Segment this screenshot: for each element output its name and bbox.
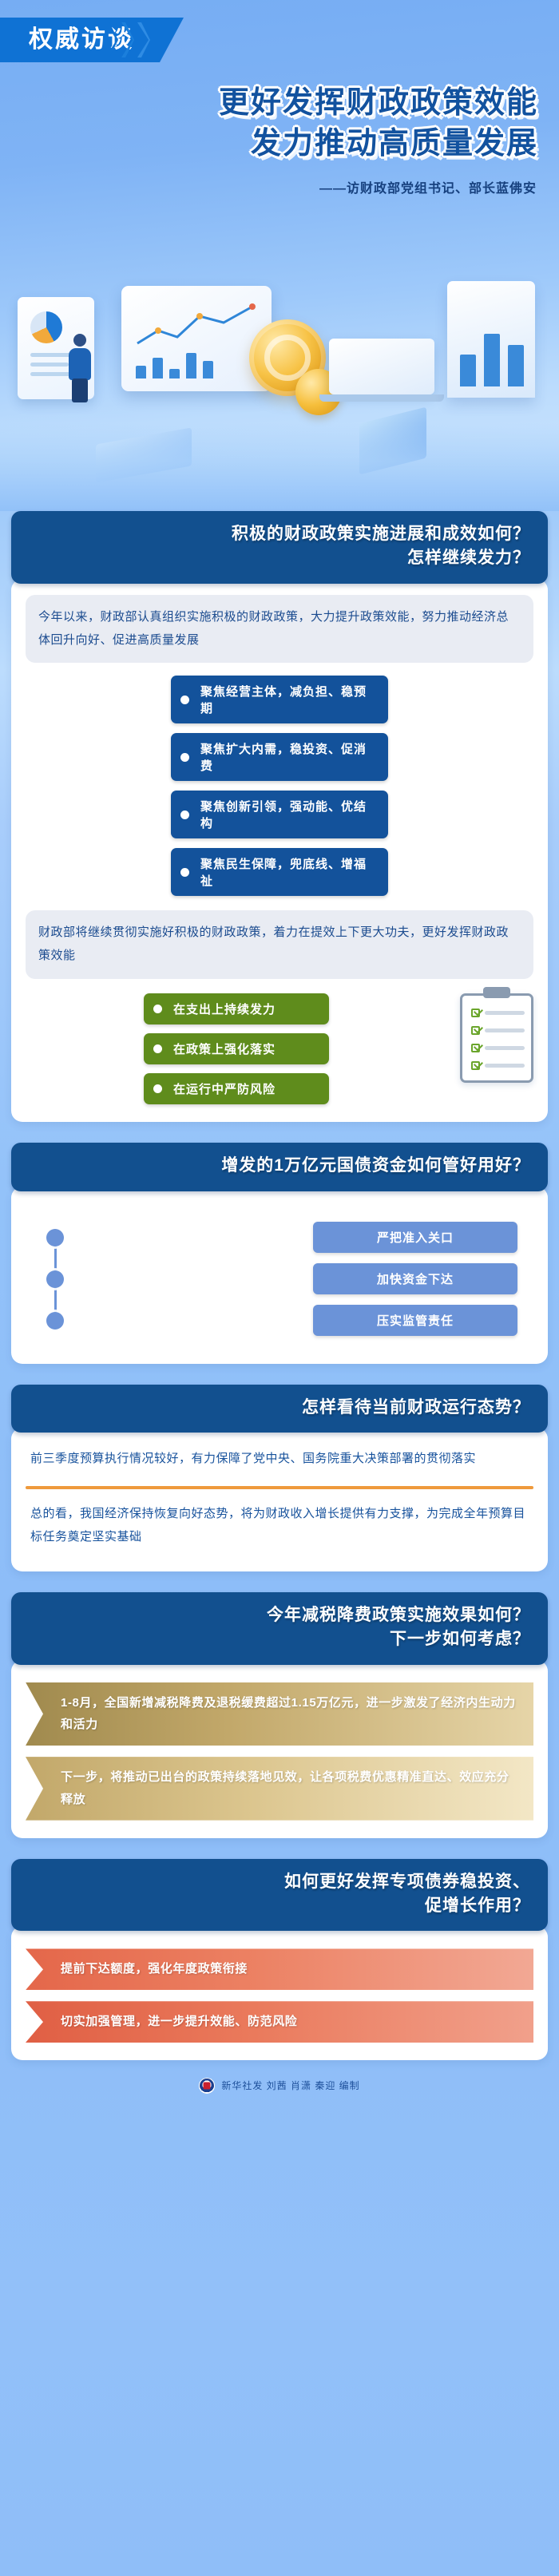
bullet-dot-icon bbox=[153, 1005, 162, 1013]
section-5-ribbon-list: 提前下达额度，强化年度政策衔接 切实加强管理，进一步提升效能、防范风险 bbox=[26, 1948, 533, 2043]
ground-gradient bbox=[0, 423, 559, 511]
section-2-header: 增发的1万亿元国债资金如何管好用好？ bbox=[11, 1143, 548, 1191]
list-item[interactable]: 聚焦扩大内需，稳投资、促消费 bbox=[171, 733, 388, 781]
section-2: 增发的1万亿元国债资金如何管好用好？ 严把准入关口 加快资金下达 压实监管责任 bbox=[11, 1143, 548, 1363]
list-item[interactable]: 在支出上持续发力 bbox=[144, 993, 329, 1024]
bullet-dot-icon bbox=[180, 696, 189, 704]
laptop-illustration bbox=[329, 339, 434, 394]
pill-label: 聚焦扩大内需，稳投资、促消费 bbox=[200, 740, 379, 774]
spacer bbox=[0, 1838, 559, 1859]
monitor-illustration bbox=[121, 286, 272, 391]
xinhua-logo-icon bbox=[199, 2078, 215, 2094]
list-item[interactable]: 聚焦民生保障，兜底线、增福祉 bbox=[171, 848, 388, 896]
section-4-heading-line-1: 今年减税降费政策实施效果如何？ bbox=[29, 1603, 530, 1627]
section-1-quote: 今年以来，财政部认真组织实施积极的财政政策，大力提升政策效能，努力推动经济总体回… bbox=[26, 595, 533, 664]
ribbon-label: 下一步，将推动已出台的政策持续落地见效，让各项税费优惠精准直达、效应充分释放 bbox=[61, 1770, 509, 1806]
section-3-paragraph-1: 前三季度预算执行情况较好，有力保障了党中央、国务院重大决策部署的贯彻落实 bbox=[26, 1444, 533, 1475]
tag-bar: 权威访谈 bbox=[0, 18, 184, 62]
section-4: 今年减税降费政策实施效果如何？ 下一步如何考虑？ 1-8月，全国新增减税降费及退… bbox=[11, 1592, 548, 1838]
hero-banner: 权威访谈 更好发挥财政政策效能 发力推动高质量发展 ——访财政部党组书记、部长蓝… bbox=[0, 0, 559, 511]
building-bar bbox=[508, 345, 524, 386]
person-body bbox=[69, 348, 91, 380]
section-1: 积极的财政政策实施进展和成效如何？ 怎样继续发力？ 今年以来，财政部认真组织实施… bbox=[11, 511, 548, 1122]
building-bar bbox=[484, 334, 500, 386]
check-icon bbox=[471, 1061, 480, 1070]
person-legs bbox=[72, 378, 88, 402]
spacer bbox=[0, 1122, 559, 1143]
checklist-clipboard-icon bbox=[460, 993, 533, 1083]
section-2-body: 严把准入关口 加快资金下达 压实监管责任 bbox=[11, 1187, 548, 1364]
page-subtitle: ——访财政部党组书记、部长蓝佛安 bbox=[319, 177, 537, 196]
section-5-heading-line-1: 如何更好发挥专项债券稳投资、 bbox=[29, 1870, 530, 1894]
check-icon bbox=[471, 1009, 480, 1017]
section-4-ribbon-list: 1-8月，全国新增减税降费及退税缓费超过1.15万亿元，进一步激发了经济内生动力… bbox=[26, 1682, 533, 1821]
timeline-label: 加快资金下达 bbox=[313, 1263, 517, 1294]
bullet-dot-icon bbox=[180, 753, 189, 762]
section-4-heading-line-2: 下一步如何考虑？ bbox=[29, 1627, 530, 1651]
timeline-item[interactable]: 严把准入关口 bbox=[26, 1217, 533, 1258]
ribbon-label: 切实加强管理，进一步提升效能、防范风险 bbox=[61, 2015, 297, 2028]
placeholder-line bbox=[485, 1011, 525, 1015]
section-tag: 权威访谈 bbox=[0, 18, 184, 62]
timeline-item[interactable]: 压实监管责任 bbox=[26, 1300, 533, 1342]
section-1-pill-list-2: 在支出上持续发力 在政策上强化落实 在运行中严防风险 bbox=[26, 993, 447, 1104]
checklist-row bbox=[471, 1061, 525, 1070]
list-item[interactable]: 聚焦创新引领，强动能、优结构 bbox=[171, 791, 388, 838]
section-1-outcome-row: 在支出上持续发力 在政策上强化落实 在运行中严防风险 bbox=[26, 993, 533, 1104]
section-5-body: 提前下达额度，强化年度政策衔接 切实加强管理，进一步提升效能、防范风险 bbox=[11, 1926, 548, 2060]
timeline-label: 严把准入关口 bbox=[313, 1222, 517, 1253]
timeline-label: 压实监管责任 bbox=[313, 1305, 517, 1336]
placeholder-line bbox=[485, 1046, 525, 1050]
spacer bbox=[0, 1571, 559, 1592]
placeholder-line bbox=[485, 1028, 525, 1032]
line-chart-icon bbox=[136, 303, 256, 350]
section-1-body: 今年以来，财政部认真组织实施积极的财政政策，大力提升政策效能，努力推动经济总体回… bbox=[11, 579, 548, 1122]
check-icon bbox=[471, 1044, 480, 1052]
section-1-heading-line-2: 怎样继续发力？ bbox=[29, 546, 530, 570]
building-bar bbox=[460, 355, 476, 386]
pill-label: 聚焦民生保障，兜底线、增福祉 bbox=[200, 855, 379, 889]
pie-chart-icon bbox=[30, 311, 62, 343]
section-4-header: 今年减税降费政策实施效果如何？ 下一步如何考虑？ bbox=[11, 1592, 548, 1665]
pill-label: 聚焦创新引领，强动能、优结构 bbox=[200, 798, 379, 831]
bullet-dot-icon bbox=[180, 868, 189, 877]
bullet-dot-icon bbox=[153, 1084, 162, 1093]
timeline-dot-icon bbox=[46, 1229, 64, 1246]
section-3-header: 怎样看待当前财政运行态势？ bbox=[11, 1385, 548, 1433]
bullet-dot-icon bbox=[153, 1044, 162, 1053]
footer-credit: 新华社发 刘茜 肖潇 秦迎 编制 bbox=[0, 2060, 559, 2114]
list-item[interactable]: 在政策上强化落实 bbox=[144, 1033, 329, 1064]
section-2-timeline: 严把准入关口 加快资金下达 压实监管责任 bbox=[26, 1203, 533, 1346]
section-1-header: 积极的财政政策实施进展和成效如何？ 怎样继续发力？ bbox=[11, 511, 548, 584]
section-3: 怎样看待当前财政运行态势？ 前三季度预算执行情况较好，有力保障了党中央、国务院重… bbox=[11, 1385, 548, 1571]
timeline-item[interactable]: 加快资金下达 bbox=[26, 1258, 533, 1300]
section-3-paragraph-2: 总的看，我国经济保持恢复向好态势，将为财政收入增长提供有力支撑，为完成全年预算目… bbox=[26, 1499, 533, 1554]
section-1-pill-list: 聚焦经营主体，减负担、稳预期 聚焦扩大内需，稳投资、促消费 聚焦创新引领，强动能… bbox=[26, 676, 533, 896]
section-3-heading-line-1: 怎样看待当前财政运行态势？ bbox=[29, 1396, 530, 1420]
ribbon-label: 提前下达额度，强化年度政策衔接 bbox=[61, 1962, 248, 1976]
ribbon-item[interactable]: 提前下达额度，强化年度政策衔接 bbox=[26, 1948, 533, 1990]
divider bbox=[26, 1486, 533, 1489]
check-icon bbox=[471, 1026, 480, 1035]
building-illustration bbox=[447, 281, 535, 398]
pill-label: 聚焦经营主体，减负担、稳预期 bbox=[200, 683, 379, 716]
section-3-body: 前三季度预算执行情况较好，有力保障了党中央、国务院重大决策部署的贯彻落实 总的看… bbox=[11, 1428, 548, 1571]
placeholder-line bbox=[485, 1064, 525, 1068]
spacer bbox=[0, 1364, 559, 1385]
timeline-dot-icon bbox=[46, 1270, 64, 1288]
title-line-2: 发力推动高质量发展 bbox=[0, 124, 538, 164]
chevron-right-icon bbox=[137, 22, 150, 57]
credit-text: 新华社发 刘茜 肖潇 秦迎 编制 bbox=[221, 2079, 359, 2092]
section-1-quote-2: 财政部将继续贯彻实施好积极的财政政策，着力在提效上下更大功夫，更好发挥财政政策效… bbox=[26, 910, 533, 979]
section-1-heading-line-1: 积极的财政政策实施进展和成效如何？ bbox=[29, 522, 530, 546]
person-head bbox=[73, 334, 86, 347]
section-5-header: 如何更好发挥专项债券稳投资、 促增长作用？ bbox=[11, 1859, 548, 1932]
pill-label: 在运行中严防风险 bbox=[173, 1080, 276, 1097]
ribbon-label: 1-8月，全国新增减税降费及退税缓费超过1.15万亿元，进一步激发了经济内生动力… bbox=[61, 1696, 516, 1732]
list-item[interactable]: 在运行中严防风险 bbox=[144, 1073, 329, 1104]
ribbon-item[interactable]: 切实加强管理，进一步提升效能、防范风险 bbox=[26, 2001, 533, 2043]
bullet-dot-icon bbox=[180, 810, 189, 819]
infographic-page: 权威访谈 更好发挥财政政策效能 发力推动高质量发展 ——访财政部党组书记、部长蓝… bbox=[0, 0, 559, 2576]
pill-label: 在支出上持续发力 bbox=[173, 1001, 276, 1017]
list-item[interactable]: 聚焦经营主体，减负担、稳预期 bbox=[171, 676, 388, 723]
bar-chart-icon bbox=[136, 351, 213, 378]
person-illustration bbox=[62, 334, 97, 402]
pill-label: 在政策上强化落实 bbox=[173, 1040, 276, 1057]
page-title: 更好发挥财政政策效能 发力推动高质量发展 bbox=[0, 83, 538, 165]
checklist-row bbox=[471, 1009, 525, 1017]
chevron-right-icon bbox=[121, 22, 134, 57]
timeline-dot-icon bbox=[46, 1312, 64, 1330]
section-2-heading-line-1: 增发的1万亿元国债资金如何管好用好？ bbox=[29, 1154, 530, 1178]
section-5: 如何更好发挥专项债券稳投资、 促增长作用？ 提前下达额度，强化年度政策衔接 切实… bbox=[11, 1859, 548, 2060]
checklist-row bbox=[471, 1026, 525, 1035]
chevron-right-icon bbox=[105, 22, 118, 57]
section-4-body: 1-8月，全国新增减税降费及退税缓费超过1.15万亿元，进一步激发了经济内生动力… bbox=[11, 1660, 548, 1838]
section-5-heading-line-2: 促增长作用？ bbox=[29, 1894, 530, 1918]
checklist-row bbox=[471, 1044, 525, 1052]
tag-label: 权威访谈 bbox=[29, 28, 134, 52]
title-line-1: 更好发挥财政政策效能 bbox=[0, 83, 538, 124]
ribbon-item[interactable]: 1-8月，全国新增减税降费及退税缓费超过1.15万亿元，进一步激发了经济内生动力… bbox=[26, 1682, 533, 1746]
ribbon-item[interactable]: 下一步，将推动已出台的政策持续落地见效，让各项税费优惠精准直达、效应充分释放 bbox=[26, 1757, 533, 1821]
